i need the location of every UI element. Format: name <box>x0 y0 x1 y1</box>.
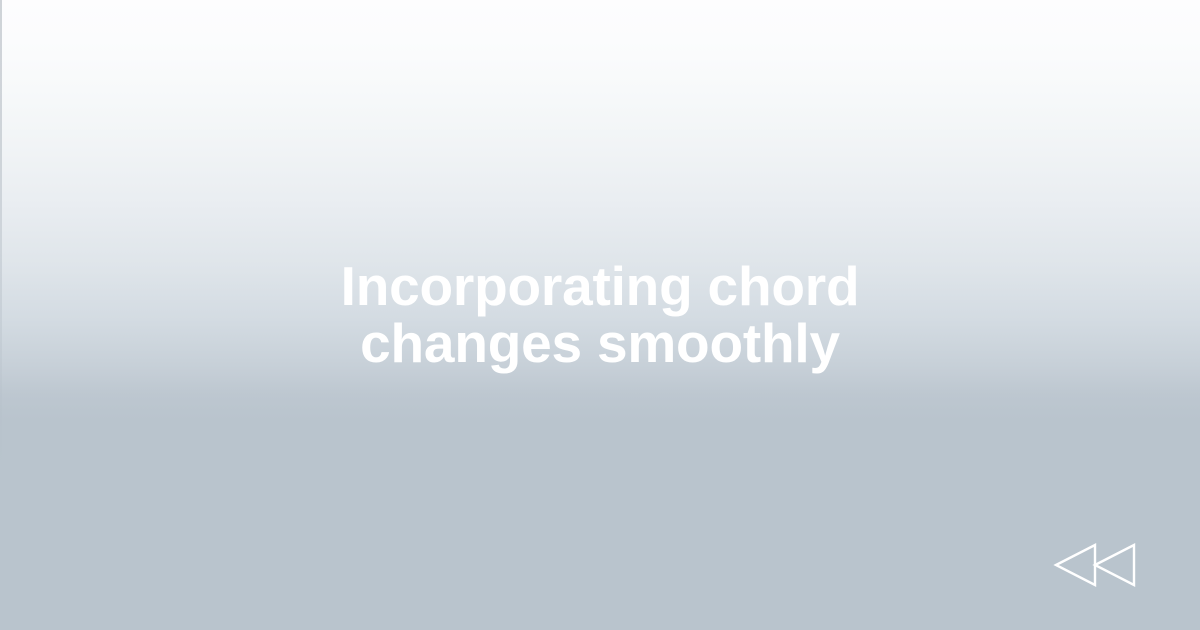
rewind-triangle-first <box>1056 545 1095 585</box>
social-card: Incorporating chord changes smoothly <box>0 0 1200 630</box>
title-container: Incorporating chord changes smoothly <box>0 0 1200 630</box>
page-title: Incorporating chord changes smoothly <box>250 258 950 372</box>
rewind-triangle-second <box>1095 545 1134 585</box>
rewind-icon[interactable] <box>1050 540 1140 590</box>
